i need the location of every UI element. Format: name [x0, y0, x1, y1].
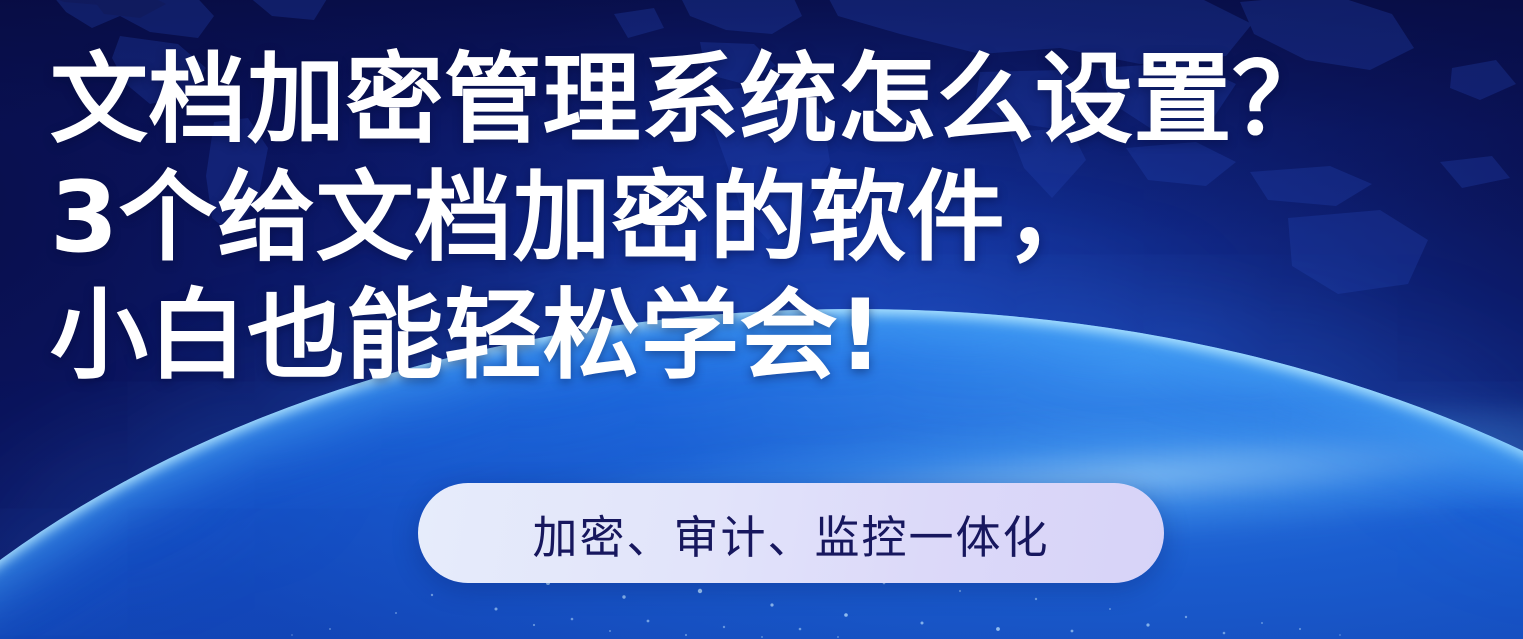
- promo-banner: 文档加密管理系统怎么设置？ 3个给文档加密的软件， 小白也能轻松学会! 加密、审…: [0, 0, 1523, 639]
- headline-line-1: 文档加密管理系统怎么设置？: [50, 44, 1510, 156]
- headline-block: 文档加密管理系统怎么设置？ 3个给文档加密的软件， 小白也能轻松学会!: [50, 44, 1510, 392]
- headline-line-2: 3个给文档加密的软件，: [50, 162, 1510, 274]
- headline-line-3: 小白也能轻松学会!: [50, 280, 1510, 392]
- subtitle-pill: 加密、审计、监控一体化: [418, 483, 1164, 583]
- subtitle-pill-label: 加密、审计、监控一体化: [532, 501, 1049, 566]
